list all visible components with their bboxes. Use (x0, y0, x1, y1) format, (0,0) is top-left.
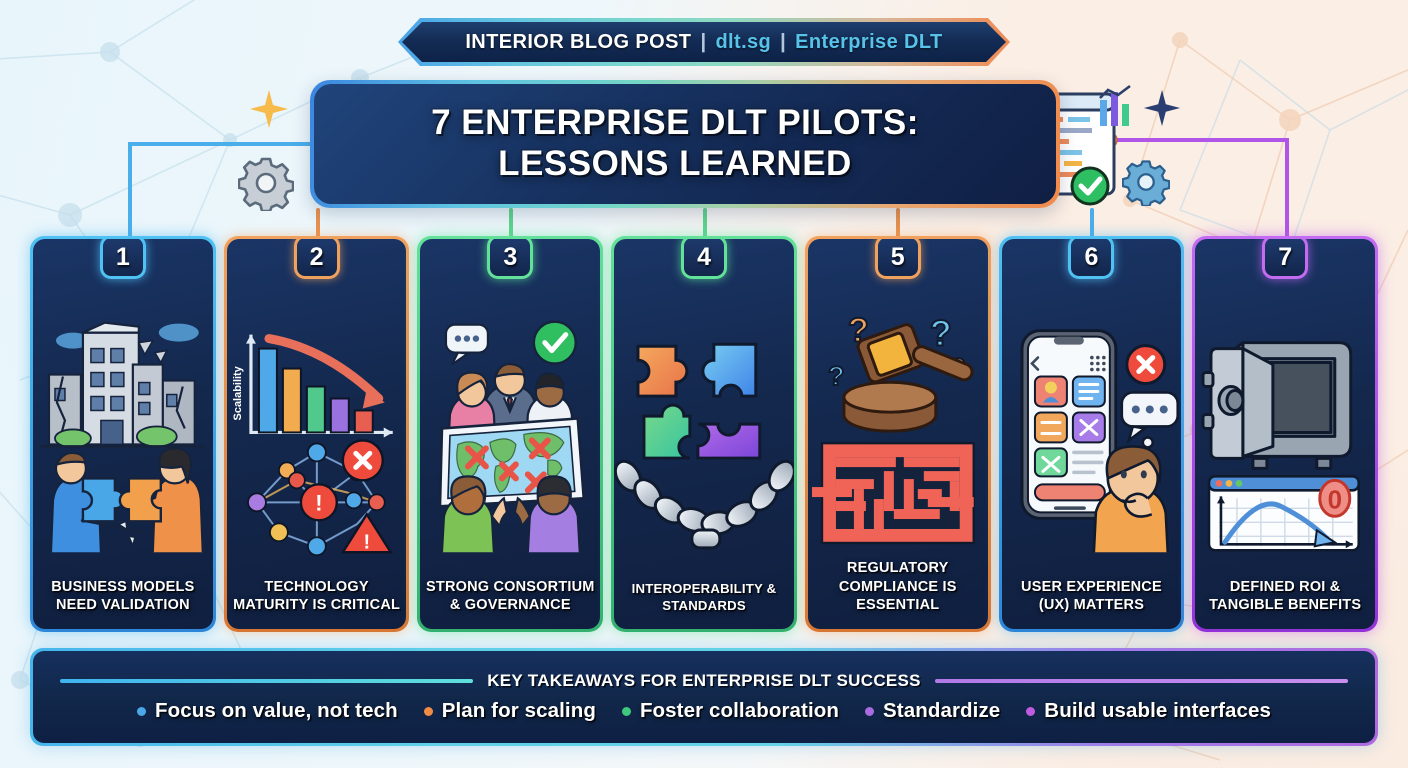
takeaway-label-3: Foster collaboration (640, 699, 839, 723)
lesson-cards: 1 (30, 236, 1378, 632)
ribbon-main-label: INTERIOR BLOG POST (465, 31, 691, 54)
footer-rule-right (935, 679, 1348, 683)
takeaway-item-4: Standardize (865, 699, 1000, 723)
card-number-3: 3 (503, 243, 517, 272)
card-number-badge-3: 3 (487, 239, 533, 279)
card-number-6: 6 (1085, 243, 1099, 272)
footer-heading-row: KEY TAKEAWAYS FOR ENTERPRISE DLT SUCCESS (60, 671, 1348, 691)
card-illustration-6 (1002, 281, 1182, 574)
takeaway-bullet-icon (865, 707, 874, 716)
small-gear-icon (238, 155, 294, 211)
lesson-card-4[interactable]: 4 (611, 236, 797, 632)
card-illustration-4 (614, 281, 794, 577)
ribbon-separator-2: | (780, 31, 786, 54)
title-banner: 7 ENTERPRISE DLT PILOTS: LESSONS LEARNED (310, 80, 1060, 208)
card-label-2: TECHNOLOGY MATURITY IS CRITICAL (227, 574, 407, 629)
card-number-5: 5 (891, 243, 905, 272)
lesson-card-3[interactable]: 3 (417, 236, 603, 632)
takeaway-label-1: Focus on value, not tech (155, 699, 398, 723)
card-number-2: 2 (310, 243, 324, 272)
takeaway-item-1: Focus on value, not tech (137, 699, 398, 723)
alert-exclamation-icon: ! (315, 490, 322, 515)
card-number-4: 4 (697, 243, 711, 272)
takeaway-bullet-icon (424, 707, 433, 716)
card-number-badge-1: 1 (100, 239, 146, 279)
card-illustration-2: Scalability (227, 281, 407, 574)
card-number-badge-2: 2 (294, 239, 340, 279)
takeaway-label-4: Standardize (883, 699, 1000, 723)
card-number-badge-6: 6 (1068, 239, 1114, 279)
lesson-card-7[interactable]: 7 (1192, 236, 1378, 632)
footer-title: KEY TAKEAWAYS FOR ENTERPRISE DLT SUCCESS (487, 671, 921, 691)
ribbon-site-label[interactable]: dlt.sg (715, 31, 771, 54)
card-illustration-1 (33, 281, 213, 574)
takeaway-bullet-icon (622, 707, 631, 716)
card-illustration-7: 0 (1195, 281, 1375, 574)
takeaway-item-5: Build usable interfaces (1026, 699, 1271, 723)
ribbon-topic-label: Enterprise DLT (795, 31, 942, 54)
card-label-4: INTEROPERABILITY & STANDARDS (614, 577, 794, 629)
card-label-1: BUSINESS MODELS NEED VALIDATION (33, 574, 213, 629)
chart-axis-label-scalability: Scalability (232, 365, 244, 420)
sparkle-icon (248, 88, 290, 130)
takeaway-bullet-icon (1026, 707, 1035, 716)
lesson-card-5[interactable]: 5 ? ? ? ? (805, 236, 991, 632)
takeaway-label-2: Plan for scaling (442, 699, 596, 723)
lesson-card-1[interactable]: 1 (30, 236, 216, 632)
grid-menu-icon (1090, 356, 1106, 372)
top-ribbon: INTERIOR BLOG POST | dlt.sg | Enterprise… (398, 18, 1010, 66)
infographic-canvas: INTERIOR BLOG POST | dlt.sg | Enterprise… (0, 0, 1408, 768)
zero-roi-label: 0 (1328, 486, 1342, 514)
card-number-badge-5: 5 (875, 239, 921, 279)
takeaway-item-2: Plan for scaling (424, 699, 596, 723)
page-title-line-1: 7 ENTERPRISE DLT PILOTS: (431, 103, 919, 144)
card-label-3: STRONG CONSORTIUM & GOVERNANCE (420, 574, 600, 629)
takeaway-bullet-icon (137, 707, 146, 716)
ribbon-content: INTERIOR BLOG POST | dlt.sg | Enterprise… (402, 22, 1006, 62)
bar-chart-icon (1094, 84, 1140, 126)
card-illustration-5: ? ? ? ? (808, 281, 988, 555)
card-label-7: DEFINED ROI & TANGIBLE BENEFITS (1195, 574, 1375, 629)
card-label-5: REGULATORY COMPLIANCE IS ESSENTIAL (808, 555, 988, 629)
lesson-card-6[interactable]: 6 (999, 236, 1185, 632)
page-title-line-2: LESSONS LEARNED (431, 144, 919, 185)
warning-triangle-icon: ! (363, 531, 370, 553)
sparkle-icon-right (1142, 88, 1182, 128)
question-mark-icon: ? (930, 312, 952, 353)
takeaways-list: Focus on value, not tech Plan for scalin… (33, 699, 1375, 723)
ribbon-separator-1: | (700, 31, 706, 54)
takeaway-item-3: Foster collaboration (622, 699, 839, 723)
card-label-6: USER EXPERIENCE (UX) MATTERS (1002, 574, 1182, 629)
card-number-badge-7: 7 (1262, 239, 1308, 279)
settings-gear-icon (1122, 158, 1170, 206)
footer-rule-left (60, 679, 473, 683)
card-number-1: 1 (116, 243, 130, 272)
key-takeaways-panel: KEY TAKEAWAYS FOR ENTERPRISE DLT SUCCESS… (30, 648, 1378, 746)
title-banner-inner: 7 ENTERPRISE DLT PILOTS: LESSONS LEARNED (314, 84, 1056, 204)
lesson-card-2[interactable]: 2 Scalability (224, 236, 410, 632)
page-title: 7 ENTERPRISE DLT PILOTS: LESSONS LEARNED (331, 103, 1039, 184)
takeaway-label-5: Build usable interfaces (1044, 699, 1271, 723)
card-illustration-3 (420, 281, 600, 574)
question-mark-icon: ? (828, 361, 844, 391)
card-number-badge-4: 4 (681, 239, 727, 279)
card-number-7: 7 (1278, 243, 1292, 272)
